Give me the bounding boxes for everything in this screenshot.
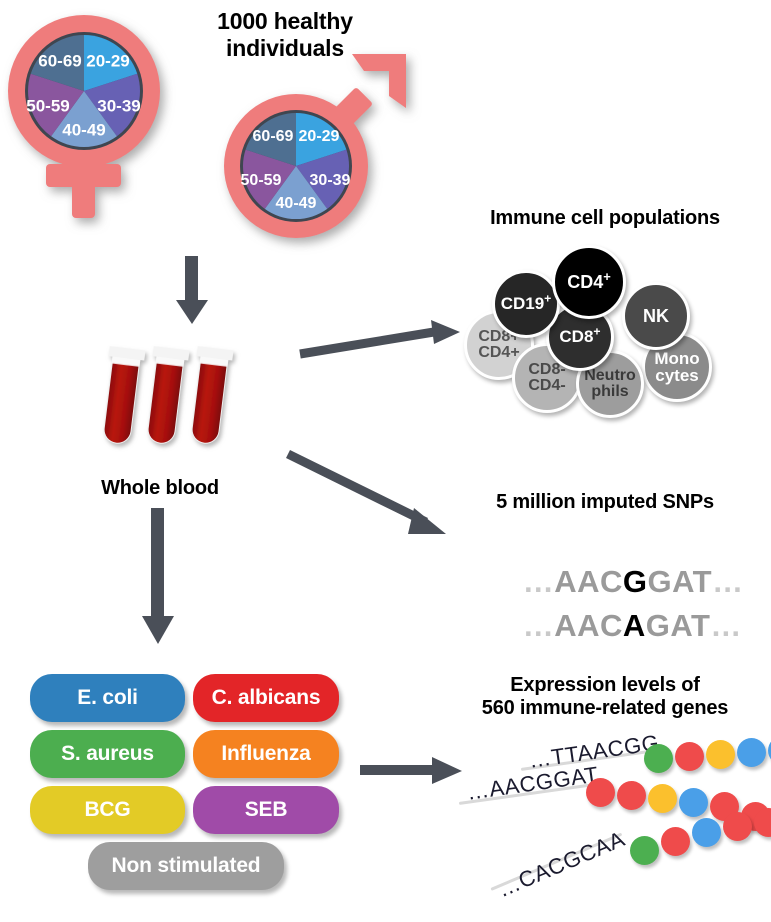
- stimulus-label: SEB: [245, 798, 288, 822]
- arrow-stimuli-to-genes: [360, 752, 470, 792]
- arrow-blood-to-snps: [288, 446, 463, 551]
- snp-allele-row-a: …AACAGAT…: [468, 572, 742, 680]
- immune-cell-label: CD19+: [501, 295, 552, 312]
- gene-strands: …TTAACGG …AACGGAT …CACGCAA: [455, 726, 771, 911]
- stimulus-e-coli[interactable]: E. coli: [30, 674, 185, 722]
- gene-dot: [737, 738, 766, 767]
- gene-dot: [644, 744, 673, 773]
- gene-dot: [692, 818, 721, 847]
- gene-dot: [679, 788, 708, 817]
- stimulus-bcg[interactable]: BCG: [30, 786, 185, 834]
- pie-label-30-39: 30-39: [97, 96, 140, 115]
- pie-label-60-69: 60-69: [253, 128, 294, 145]
- stimulus-c-albicans[interactable]: C. albicans: [193, 674, 339, 722]
- snp-suffix-bases: GAT: [646, 608, 711, 643]
- pie-label-30-39: 30-39: [310, 172, 351, 189]
- stimulus-influenza[interactable]: Influenza: [193, 730, 339, 778]
- snp-sequences: …AACGGAT… …AACAGAT…: [468, 528, 758, 618]
- stimulus-seb[interactable]: SEB: [193, 786, 339, 834]
- stimulus-label: E. coli: [77, 686, 137, 710]
- snp-variant-base: A: [623, 608, 646, 643]
- stimuli-panel: E. coli C. albicans S. aureus Influenza …: [30, 674, 340, 889]
- figure-canvas: 1000 healthy individuals: [0, 0, 771, 922]
- stimulus-label: S. aureus: [61, 742, 154, 766]
- stimulus-s-aureus[interactable]: S. aureus: [30, 730, 185, 778]
- stimulus-non-stimulated[interactable]: Non stimulated: [88, 842, 284, 890]
- stimulus-label: Non stimulated: [112, 854, 261, 878]
- gene-dot: [586, 778, 615, 807]
- immune-cell-label: CD4+: [567, 273, 611, 291]
- immune-cell-label: CD8- CD4-: [528, 362, 565, 395]
- pie-label-50-59: 50-59: [241, 172, 282, 189]
- gene-dot: [648, 784, 677, 813]
- gene-dot: [617, 781, 646, 810]
- snp-prefix-bases: AAC: [554, 608, 623, 643]
- pie-label-60-69: 60-69: [38, 51, 81, 70]
- genes-title: Expression levels of 560 immune-related …: [450, 674, 760, 720]
- stimulus-label: BCG: [84, 798, 130, 822]
- arrow-blood-to-immune: [300, 318, 470, 368]
- pie-label-20-29: 20-29: [299, 128, 340, 145]
- pie-label-20-29: 20-29: [86, 51, 129, 70]
- gene-dot: [706, 740, 735, 769]
- female-gender-symbol: 20-29 30-39 40-49 50-59 60-69: [6, 6, 206, 236]
- immune-cell-cd19-positive: CD19+: [492, 270, 560, 338]
- whole-blood-label: Whole blood: [60, 477, 260, 500]
- snp-leading-dots: …: [523, 608, 555, 643]
- snps-title: 5 million imputed SNPs: [455, 491, 755, 514]
- immune-cell-cd4-positive: CD4+: [552, 245, 626, 319]
- gene-dot: [675, 742, 704, 771]
- male-gender-symbol: 20-29 30-39 40-49 50-59 60-69: [200, 40, 430, 255]
- gene-dot: [630, 836, 659, 865]
- pie-label-50-59: 50-59: [26, 96, 69, 115]
- blood-tube: [142, 346, 189, 446]
- arrow-cohort-to-blood: [172, 256, 212, 326]
- immune-cell-label: Neutro phils: [584, 368, 636, 401]
- blood-tubes: [96, 334, 246, 469]
- stimulus-label: Influenza: [221, 742, 310, 766]
- arrow-blood-to-stimuli: [138, 508, 178, 648]
- stimulus-label: C. albicans: [212, 686, 321, 710]
- immune-cell-nk: NK: [622, 282, 690, 350]
- gene-dot: [754, 808, 771, 837]
- immune-cell-label: CD8+: [559, 328, 600, 345]
- snp-trailing-dots: …: [710, 608, 742, 643]
- gene-strand-3-sequence: …CACGCAA: [494, 826, 629, 903]
- immune-title: Immune cell populations: [455, 207, 755, 230]
- gene-dot: [661, 827, 690, 856]
- gene-dot: [723, 812, 752, 841]
- immune-cell-label: NK: [643, 307, 669, 325]
- immune-cell-cluster: CD8+ CD4+ CD8- CD4- Mono cytes Neutro ph…: [464, 240, 764, 420]
- blood-tube: [186, 346, 233, 446]
- pie-label-40-49: 40-49: [276, 195, 317, 212]
- immune-cell-label: Mono cytes: [654, 350, 699, 385]
- pie-label-40-49: 40-49: [62, 120, 105, 139]
- blood-tube: [98, 346, 145, 446]
